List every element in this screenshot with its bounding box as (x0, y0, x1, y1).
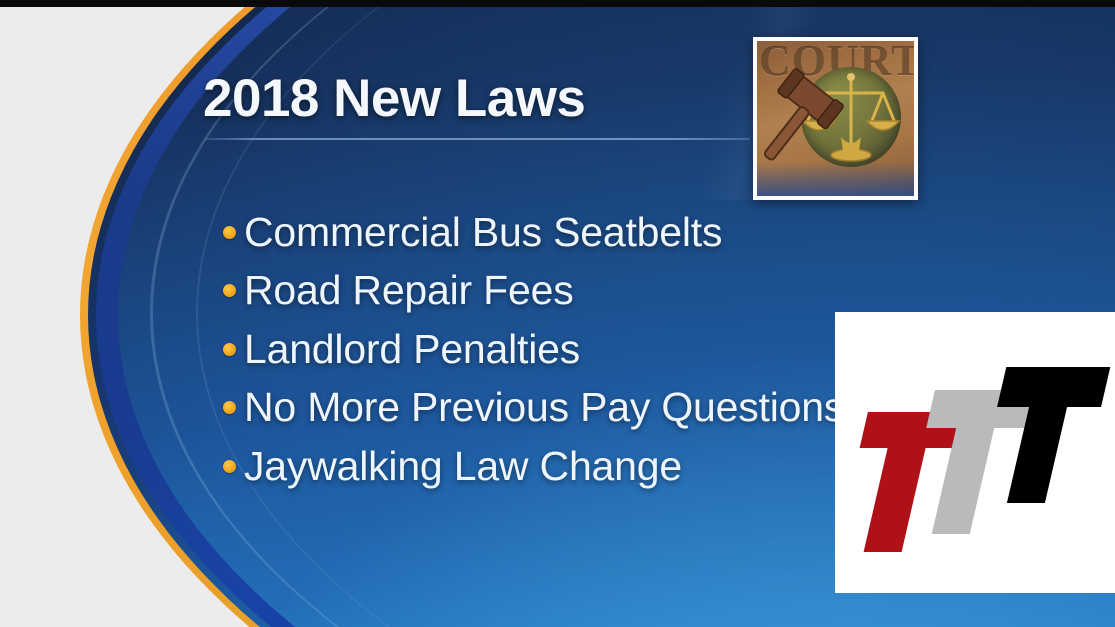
bullet-dot-icon (223, 460, 236, 473)
laws-list: Commercial Bus Seatbelts Road Repair Fee… (223, 203, 844, 496)
court-image-frame: COURT (753, 37, 918, 200)
list-item-label: Road Repair Fees (244, 270, 574, 311)
bullet-dot-icon (223, 343, 236, 356)
list-item-label: Jaywalking Law Change (244, 446, 682, 487)
list-item-label: No More Previous Pay Questions (244, 387, 844, 428)
news-lower-third-graphic: 2018 New Laws Commercial Bus Seatbelts R… (0, 0, 1115, 627)
triple-t-logo-icon (835, 312, 1115, 593)
bullet-dot-icon (223, 284, 236, 297)
list-item: Commercial Bus Seatbelts (223, 203, 844, 262)
page-title: 2018 New Laws (203, 68, 585, 129)
bullet-dot-icon (223, 401, 236, 414)
court-image: COURT (757, 41, 914, 196)
title-divider (205, 138, 750, 140)
list-item: No More Previous Pay Questions (223, 379, 844, 438)
gavel-icon (757, 41, 914, 196)
list-item: Landlord Penalties (223, 320, 844, 379)
list-item-label: Commercial Bus Seatbelts (244, 212, 722, 253)
station-logo-overlay (835, 312, 1115, 593)
letterbox-top-bar (0, 0, 1115, 7)
list-item: Road Repair Fees (223, 262, 844, 321)
list-item-label: Landlord Penalties (244, 329, 580, 370)
list-item: Jaywalking Law Change (223, 437, 844, 496)
bullet-dot-icon (223, 226, 236, 239)
